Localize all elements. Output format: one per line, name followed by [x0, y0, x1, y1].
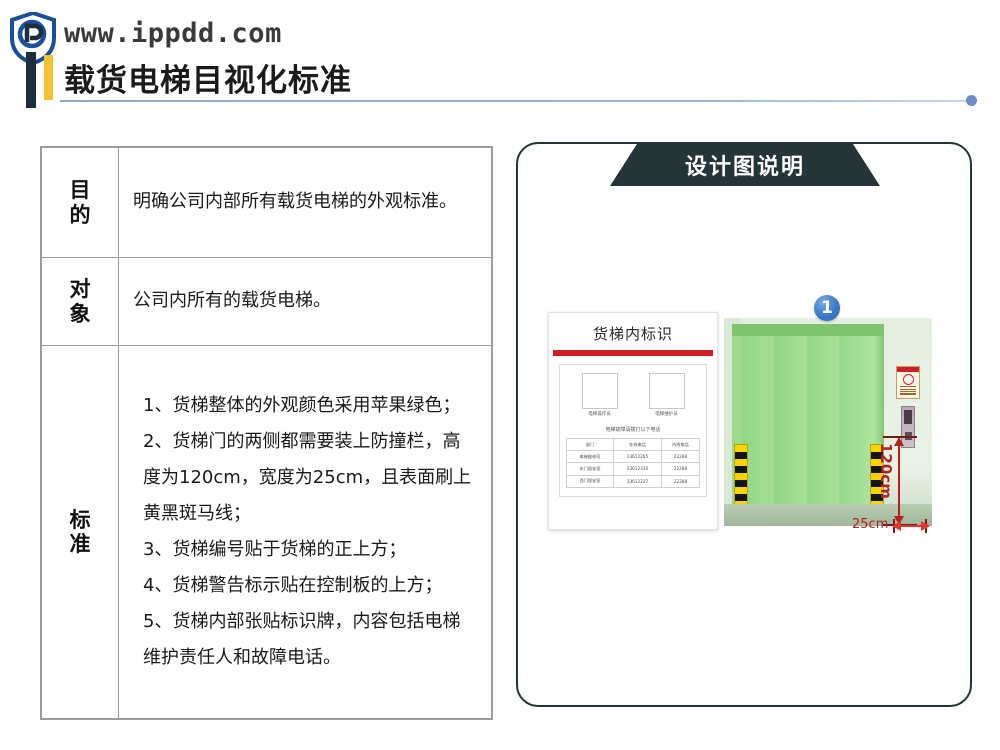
- cell-dept: 西门保安室: [567, 475, 614, 487]
- standard-line: 度为120cm，宽度为25cm，且表面刷上: [143, 460, 475, 496]
- dimension-line-horizontal: [900, 525, 922, 527]
- column-header: 内线电话: [661, 439, 699, 451]
- column-header: 在线电话: [614, 439, 662, 451]
- cell-outside-phone: 23612265: [614, 451, 662, 463]
- table-row: 对象 公司内所有的载货电梯。: [42, 258, 492, 346]
- warning-text-line: [900, 389, 916, 390]
- elevator-sign-placard: 货梯内标识 电梯操作员 电梯维护员 电梯故障请拨打以下电话 部门 在线电话 内线…: [548, 312, 718, 530]
- table-row: 东门保安室 23612330 22288: [567, 463, 700, 475]
- placard-title: 货梯内标识: [549, 323, 717, 344]
- warning-sign-header: [897, 367, 919, 372]
- elevator-door-green: [742, 332, 884, 510]
- photo-caption: 电梯操作员: [582, 411, 618, 417]
- spec-table: 目的 明确公司内部所有载货电梯的外观标准。 对象 公司内所有的载货电梯。 标准 …: [40, 146, 493, 720]
- callout-badge-1: 1: [814, 295, 840, 321]
- standard-line: 5、货梯内部张贴标识牌，内容包括电梯: [143, 604, 475, 640]
- row-label-target: 对象: [42, 258, 119, 346]
- arrow-left-icon: [892, 521, 901, 531]
- standard-line: 黄黑斑马线；: [143, 496, 475, 532]
- warning-sign-icon: [896, 366, 920, 399]
- bumper-guard-left: [734, 444, 748, 506]
- table-row: 标准 1、货梯整体的外观颜色采用苹果绿色； 2、货梯门的两侧都需要装上防撞栏，高…: [42, 346, 492, 719]
- cell-inside-phone: 22288: [661, 475, 699, 487]
- warning-text-line: [900, 393, 916, 394]
- row-value-purpose: 明确公司内部所有载货电梯的外观标准。: [119, 148, 492, 258]
- photo-caption: 电梯维护员: [649, 411, 685, 417]
- cell-outside-phone: 23612227: [614, 475, 662, 487]
- dimension-line-vertical: [898, 438, 900, 524]
- placard-note: 电梯故障请拨打以下电话: [566, 426, 700, 433]
- standard-line: 1、货梯整体的外观颜色采用苹果绿色；: [143, 388, 475, 424]
- design-card-banner-label: 设计图说明: [685, 149, 805, 181]
- standard-line: 2、货梯门的两侧都需要装上防撞栏，高: [143, 424, 475, 460]
- standard-line: 维护责任人和故障电话。: [143, 640, 475, 676]
- arrow-right-icon: [921, 521, 930, 531]
- warning-text-line: [900, 386, 916, 387]
- dimension-label-height: 120cm: [877, 443, 895, 521]
- design-card-banner: 设计图说明: [610, 144, 880, 186]
- table-row: 电梯维修司 23612265 22288: [567, 451, 700, 463]
- standard-line: 4、货梯警告标示贴在控制板的上方；: [143, 568, 475, 604]
- standard-line: 3、货梯编号贴于货梯的正上方；: [143, 532, 475, 568]
- cell-outside-phone: 23612330: [614, 463, 662, 475]
- cell-inside-phone: 22288: [661, 451, 699, 463]
- placard-red-bar: [553, 350, 713, 356]
- table-row: 目的 明确公司内部所有载货电梯的外观标准。: [42, 148, 492, 258]
- placard-photo-slot: 电梯维护员: [649, 373, 685, 417]
- title-accent-bar-navy: [26, 52, 36, 108]
- elevator-photo: [724, 318, 932, 526]
- placard-photo-slot: 电梯操作员: [582, 373, 618, 417]
- placard-inner-frame: 电梯操作员 电梯维护员 电梯故障请拨打以下电话 部门 在线电话 内线电话 电梯维…: [559, 364, 707, 497]
- warning-text-line: [900, 391, 916, 392]
- photo-placeholder-box: [582, 373, 618, 409]
- column-header: 部门: [567, 439, 614, 451]
- arrow-up-icon: [894, 437, 904, 446]
- cell-dept: 电梯维修司: [567, 451, 614, 463]
- row-value-target: 公司内所有的载货电梯。: [119, 258, 492, 346]
- placard-photo-row: 电梯操作员 电梯维护员: [566, 373, 700, 417]
- prohibition-circle-icon: [903, 374, 914, 385]
- table-header-row: 部门 在线电话 内线电话: [567, 439, 700, 451]
- row-value-standard: 1、货梯整体的外观颜色采用苹果绿色； 2、货梯门的两侧都需要装上防撞栏，高 度为…: [119, 346, 492, 719]
- elevator-lintel: [732, 324, 884, 336]
- site-url-text: www.ippdd.com: [64, 18, 282, 49]
- placard-contact-table: 部门 在线电话 内线电话 电梯维修司 23612265 22288 东门保安室 …: [566, 438, 700, 488]
- title-accent-bar-yellow: [44, 55, 53, 100]
- cell-inside-phone: 22288: [661, 463, 699, 475]
- table-row: 西门保安室 23612227 22288: [567, 475, 700, 487]
- cell-dept: 东门保安室: [567, 463, 614, 475]
- row-label-standard: 标准: [42, 346, 119, 719]
- control-panel-display: [904, 410, 912, 424]
- dimension-label-width: 25cm: [852, 517, 888, 532]
- page-title: 载货电梯目视化标准: [64, 55, 352, 100]
- header-divider-dot: [966, 95, 977, 106]
- row-label-purpose: 目的: [42, 148, 119, 258]
- page-header: www.ippdd.com 载货电梯目视化标准: [0, 0, 1000, 112]
- header-divider: [60, 100, 970, 102]
- photo-placeholder-box: [649, 373, 685, 409]
